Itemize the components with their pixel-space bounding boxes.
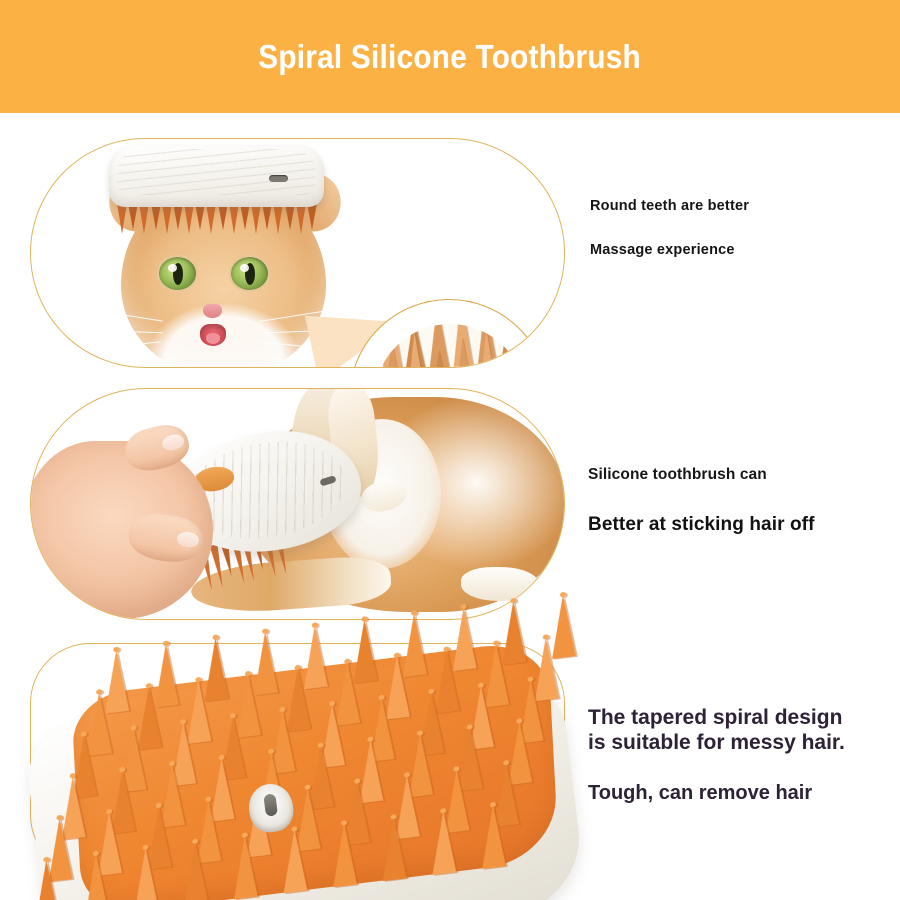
cat-eye-glint-left	[168, 264, 177, 272]
panel-2-text-line-2: Better at sticking hair off	[588, 514, 815, 536]
panel-1-image	[31, 139, 564, 367]
panel-2-text-block: Silicone toothbrush can Better at sticki…	[588, 466, 815, 536]
panel-1-text-line-2: Massage experience	[590, 242, 749, 258]
cat-tongue	[206, 333, 220, 344]
panel-2-image	[31, 389, 564, 619]
device-rib-texture	[117, 149, 316, 195]
fingernail	[161, 432, 186, 452]
fingernail	[176, 531, 200, 549]
product-infographic-page: Spiral Silicone Toothbrush	[0, 0, 900, 900]
panel-3-text-line-3: Tough, can remove hair	[588, 782, 845, 805]
panel-round-teeth	[30, 138, 565, 368]
tapered-spike-field	[70, 583, 601, 900]
panel-tapered-spiral	[30, 643, 565, 875]
panel-3-text-line-1: The tapered spiral design	[588, 706, 845, 731]
panel-hair-removal	[30, 388, 565, 620]
cat-with-brush-photo	[31, 139, 564, 367]
silicone-brush-device	[109, 145, 324, 207]
panel-1-text-block: Round teeth are better Massage experienc…	[590, 198, 749, 258]
panel-1-text-line-1: Round teeth are better	[590, 198, 749, 214]
magnified-bristle-field	[374, 329, 526, 367]
panel-2-text-line-1: Silicone toothbrush can	[588, 466, 815, 484]
header-banner: Spiral Silicone Toothbrush	[0, 0, 900, 113]
cat-eye-right	[231, 257, 268, 290]
panel-3-image	[31, 644, 564, 874]
cat-nose	[203, 304, 222, 318]
page-title: Spiral Silicone Toothbrush	[259, 38, 642, 76]
brush-bristles-row	[117, 203, 317, 237]
hand-grooming-cat-photo	[31, 389, 564, 619]
cat-eye-glint-right	[240, 264, 249, 272]
usb-port-icon	[269, 175, 288, 182]
panel-3-text-line-2: is suitable for messy hair.	[588, 731, 845, 756]
cat-eye-left	[159, 257, 196, 290]
panel-3-heading: The tapered spiral design is suitable fo…	[588, 706, 845, 756]
steam-nozzle-hole	[263, 793, 278, 816]
bristle-pad-closeup-photo	[31, 644, 564, 874]
magnifier-lens	[374, 324, 526, 367]
cat-open-mouth	[200, 324, 226, 346]
panel-3-text-block: The tapered spiral design is suitable fo…	[588, 706, 845, 805]
